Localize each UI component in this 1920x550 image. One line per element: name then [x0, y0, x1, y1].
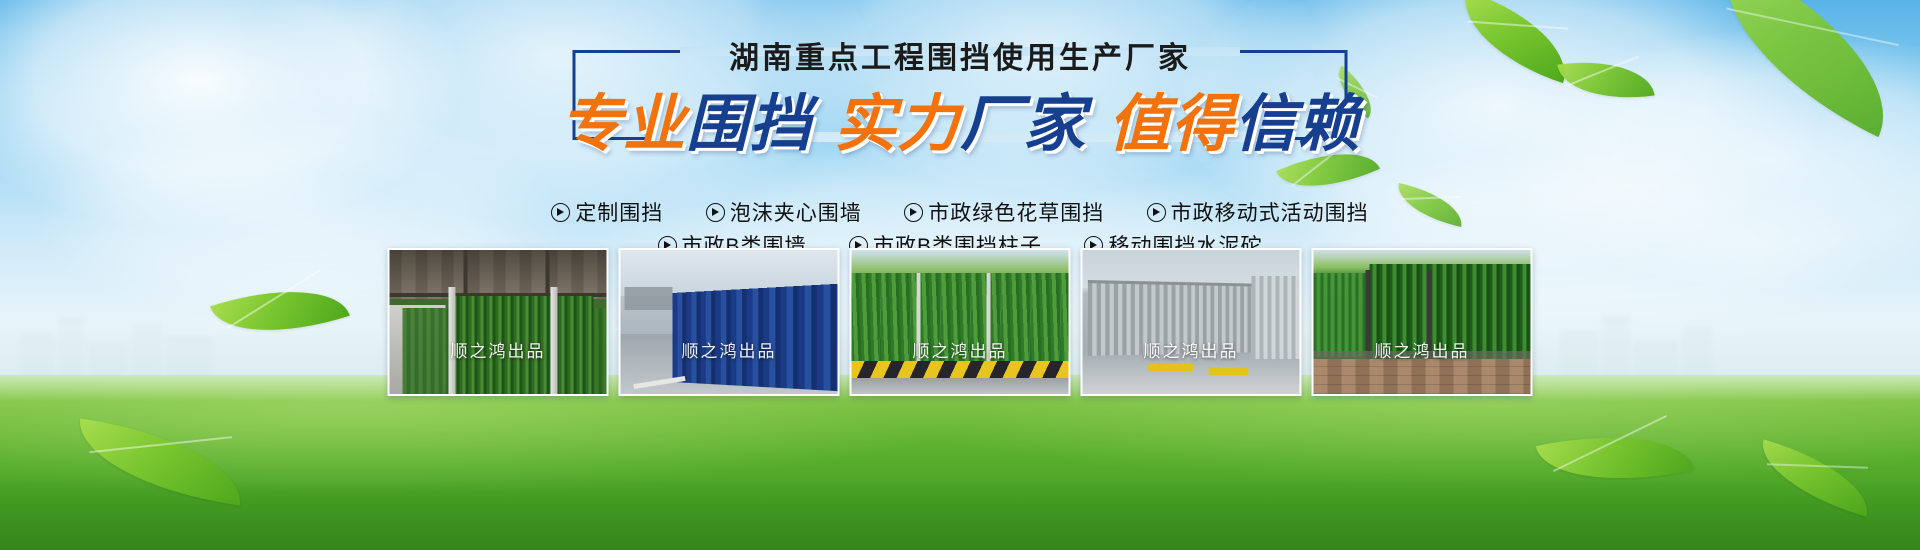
headline-spacer — [812, 94, 834, 156]
fence-post — [550, 287, 557, 394]
product-thumbnail[interactable]: 顺之鸿出品 — [619, 248, 840, 396]
play-bullet-icon — [1147, 203, 1166, 222]
headline-block: 湖南重点工程围挡使用生产厂家 专业围挡 实力厂家 值得信赖 — [0, 44, 1920, 156]
play-bullet-icon — [904, 203, 923, 222]
grey-movable-fence-panel — [1088, 280, 1260, 356]
product-thumbnail[interactable]: 顺之鸿出品 — [388, 248, 609, 396]
green-grass-hoarding — [852, 273, 1069, 362]
feature-label: 泡沫夹心围墙 — [730, 202, 862, 225]
warehouse-roof — [390, 250, 607, 299]
play-bullet-icon — [706, 203, 725, 222]
steel-column — [463, 250, 467, 299]
headline-part-2: 围挡 — [686, 94, 812, 156]
ground-surface — [852, 378, 1069, 394]
subtitle-row: 湖南重点工程围挡使用生产厂家 — [0, 44, 1920, 78]
brick-pavement — [1314, 359, 1531, 394]
feature-item[interactable]: 泡沫夹心围墙 — [706, 203, 862, 224]
banner-subtitle: 湖南重点工程围挡使用生产厂家 — [715, 44, 1205, 74]
feature-label: 市政移动式活动围挡 — [1171, 202, 1369, 225]
panel-frame — [986, 273, 990, 362]
fence-base-weight — [1208, 368, 1248, 375]
product-thumbnail[interactable]: 顺之鸿出品 — [1081, 248, 1302, 396]
feature-row-1: 定制围挡 泡沫夹心围墙 市政绿色花草围挡 市政移动式活动围挡 — [0, 203, 1920, 224]
product-thumbnail-row: 顺之鸿出品 顺之鸿出品 顺之鸿出品 顺之鸿出品 — [388, 248, 1533, 396]
headline-part-1: 专业 — [560, 94, 686, 156]
distant-buildings — [625, 287, 673, 310]
feature-label: 定制围挡 — [575, 202, 663, 225]
yellow-black-kerb — [852, 361, 1069, 380]
play-bullet-icon — [551, 203, 570, 222]
road-surface — [1083, 354, 1300, 394]
headline-part-5: 值得 — [1108, 94, 1234, 156]
headline-part-6: 信赖 — [1234, 94, 1360, 156]
promo-banner: 湖南重点工程围挡使用生产厂家 专业围挡 实力厂家 值得信赖 定制围挡 泡沫夹心围… — [0, 0, 1920, 550]
feature-item[interactable]: 市政移动式活动围挡 — [1147, 203, 1369, 224]
leaf-decoration — [210, 266, 350, 356]
grass-field — [0, 375, 1920, 550]
headline-spacer — [1086, 94, 1108, 156]
product-thumbnail[interactable]: 顺之鸿出品 — [1312, 248, 1533, 396]
product-thumbnail[interactable]: 顺之鸿出品 — [850, 248, 1071, 396]
feature-label: 市政绿色花草围挡 — [928, 202, 1104, 225]
headline-part-4: 厂家 — [960, 94, 1086, 156]
grass-shadow — [0, 480, 1920, 550]
feature-item[interactable]: 定制围挡 — [551, 203, 663, 224]
fence-base-weight — [1148, 364, 1194, 371]
headline-part-3: 实力 — [834, 94, 960, 156]
banner-headline: 专业围挡 实力厂家 值得信赖 — [0, 94, 1920, 156]
green-fence-right — [1370, 264, 1531, 362]
panel-frame — [917, 273, 921, 362]
grey-fence-panel-right — [1252, 276, 1300, 360]
fence-post — [448, 287, 455, 394]
blue-hoarding-fence — [673, 282, 840, 394]
green-grass-fence-panel — [450, 296, 593, 394]
feature-item[interactable]: 市政绿色花草围挡 — [904, 203, 1104, 224]
